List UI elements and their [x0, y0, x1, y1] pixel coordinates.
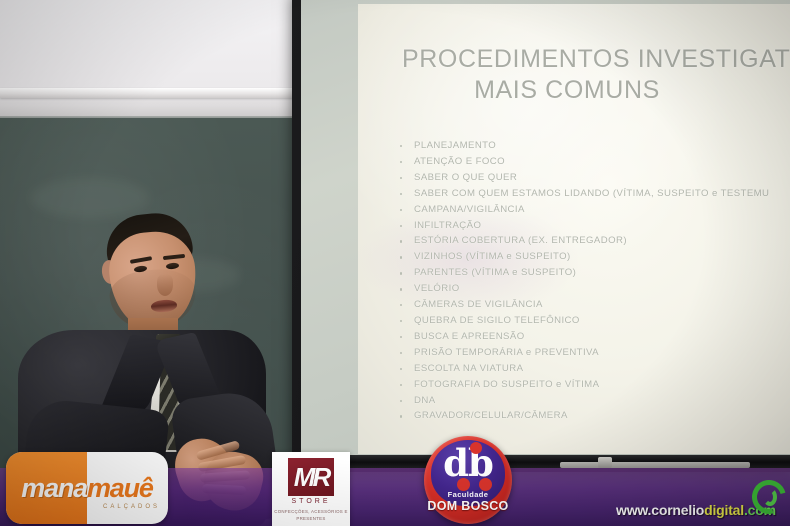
slide-bullet: QUEBRA DE SIGILO TELEFÔNICO [396, 313, 790, 329]
manamaue-word-2: mauê [87, 473, 153, 504]
dom-bosco-name: DOM BOSCO [424, 499, 512, 513]
slide-title: PROCEDIMENTOS INVESTIGATÓRIO MAIS COMUNS [402, 44, 790, 106]
slide-bullet: CAMPANA/VIGILÂNCIA [396, 202, 790, 218]
dom-bosco-dot [470, 442, 482, 454]
manamaue-word-1: mana [21, 473, 87, 504]
slide-bullet: CÂMERAS DE VIGILÂNCIA [396, 297, 790, 313]
swirl-tail [763, 488, 777, 506]
presenter-nose [157, 274, 173, 296]
presentation-photo: PROCEDIMENTOS INVESTIGATÓRIO MAIS COMUNS… [0, 0, 790, 526]
slide-bullet: VELÓRIO [396, 281, 790, 297]
slide-bullet: SABER O QUE QUER [396, 170, 790, 186]
slide-title-line2: MAIS COMUNS [402, 75, 732, 106]
manamaue-tagline: CALÇADOS [6, 504, 160, 510]
slide-bullet: DNA [396, 393, 790, 409]
slide: PROCEDIMENTOS INVESTIGATÓRIO MAIS COMUNS… [358, 4, 790, 454]
slide-bullet: PARENTES (VÍTIMA e SUSPEITO) [396, 265, 790, 281]
mr-store-logo: MR STORE CONFECÇÕES, ACESSÓRIOS E PRESEN… [272, 452, 350, 526]
slide-bullet: PLANEJAMENTO [396, 138, 790, 154]
slide-bullet: VIZINHOS (VÍTIMA e SUSPEITO) [396, 249, 790, 265]
slide-bullet: ESCOLTA NA VIATURA [396, 361, 790, 377]
screen-roller-knob [598, 457, 612, 468]
manamaue-wordmark: manamauê [6, 452, 168, 524]
slide-bullet: FOTOGRAFIA DO SUSPEITO e VÍTIMA [396, 377, 790, 393]
slide-bullet: SABER COM QUEM ESTAMOS LIDANDO (VÍTIMA, … [396, 186, 790, 202]
slide-bullet-list: PLANEJAMENTO ATENÇÃO E FOCO SABER O QUE … [396, 138, 790, 424]
mr-store-name: STORE [272, 498, 350, 505]
dom-bosco-monogram: db [431, 445, 505, 481]
back-wall [0, 0, 300, 120]
dom-bosco-kicker: Faculdade [424, 490, 512, 499]
slide-bullet: ATENÇÃO E FOCO [396, 154, 790, 170]
slide-bullet: INFILTRAÇÃO [396, 218, 790, 234]
slide-title-line1: PROCEDIMENTOS INVESTIGATÓRIO [402, 45, 790, 73]
slide-bullet: PRISÃO TEMPORÁRIA e PREVENTIVA [396, 345, 790, 361]
watermark-part-www: www. [616, 502, 651, 518]
mr-monogram: MR [288, 458, 334, 496]
watermark-part-cornelio: cornelio [651, 502, 704, 518]
slide-bullet: BUSCA E APREENSÃO [396, 329, 790, 345]
slide-bullet: GRAVADOR/CELULAR/CÂMERA [396, 408, 790, 424]
watermark-part-digital: digital [704, 502, 744, 518]
dom-bosco-logo: db Faculdade DOM BOSCO [424, 436, 512, 524]
cornelio-swirl-icon [752, 480, 786, 514]
manamaue-logo: manamauê CALÇADOS [6, 452, 168, 524]
wall-trim [0, 88, 300, 98]
slide-bullet: ESTÓRIA COBERTURA (EX. ENTREGADOR) [396, 233, 790, 249]
mr-store-tagline: CONFECÇÕES, ACESSÓRIOS E PRESENTES [272, 509, 350, 522]
